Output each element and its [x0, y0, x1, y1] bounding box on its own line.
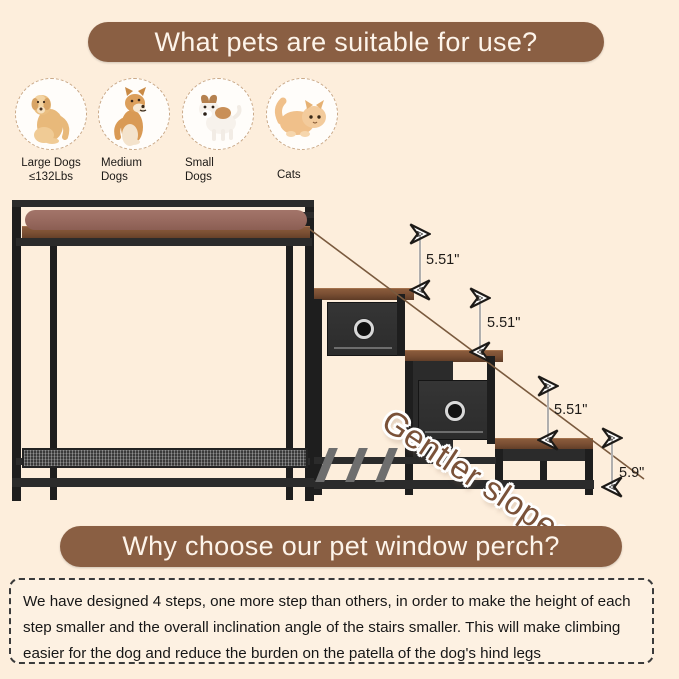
- perch-seat-frame-bar: [16, 238, 312, 246]
- pet-item-cats: Cats: [265, 78, 339, 182]
- pet-label: Large Dogs ≤132Lbs: [14, 156, 88, 184]
- bin-grommet-handle: [354, 319, 374, 339]
- floor-slat: [375, 448, 398, 482]
- stair-bin-1-frame: [397, 294, 405, 356]
- orange-kitten-glyph: [267, 79, 337, 149]
- perch-foot-right: [305, 487, 314, 501]
- dimension-label-step-4: 5.9": [619, 465, 644, 481]
- pet-label: Cats: [265, 168, 339, 182]
- jack-russell-puppy-icon: [182, 78, 254, 150]
- bin-grommet-handle: [445, 401, 465, 421]
- description-box: We have designed 4 steps, one more step …: [9, 578, 654, 664]
- top-heading-banner: What pets are suitable for use?: [88, 22, 604, 62]
- jack-russell-puppy-glyph: [183, 79, 253, 149]
- golden-retriever-glyph: [16, 79, 86, 149]
- description-text: We have designed 4 steps, one more step …: [23, 589, 640, 667]
- perch-cushion: [25, 210, 307, 230]
- dimension-label-step-1: 5.51": [426, 252, 459, 268]
- shiba-inu-glyph: [99, 79, 169, 149]
- pet-item-large-dogs: Large Dogs ≤132Lbs: [14, 78, 88, 184]
- pet-item-small-dogs: Small Dogs: [181, 78, 255, 184]
- suitable-pets-row: Large Dogs ≤132Lbs Medium Dogs: [0, 78, 679, 190]
- shiba-inu-icon: [98, 78, 170, 150]
- orange-kitten-icon: [266, 78, 338, 150]
- perch-mesh-shelf: [22, 448, 308, 468]
- perch-foot-left: [12, 487, 21, 501]
- dimension-label-step-2: 5.51": [487, 315, 520, 331]
- bin-seam: [334, 347, 392, 349]
- bottom-heading-banner: Why choose our pet window perch?: [60, 526, 622, 567]
- product-illustration: 5.51" 5.51" 5.51" 5.9" Gentler slopes: [0, 190, 679, 520]
- dimension-label-step-3: 5.51": [554, 402, 587, 418]
- pet-label: Medium Dogs: [97, 156, 171, 184]
- pet-item-medium-dogs: Medium Dogs: [97, 78, 171, 184]
- perch-bottom-rail: [12, 478, 314, 487]
- golden-retriever-icon: [15, 78, 87, 150]
- stair-lower-panel: [503, 449, 593, 461]
- top-heading-text: What pets are suitable for use?: [154, 27, 537, 58]
- perch-top-rail-back: [12, 200, 314, 207]
- pet-label: Small Dogs: [181, 156, 255, 184]
- bottom-heading-text: Why choose our pet window perch?: [122, 531, 559, 562]
- floor-slat: [345, 448, 368, 482]
- storage-bin-1: [327, 302, 399, 356]
- stair-bin-2-frame: [487, 356, 495, 444]
